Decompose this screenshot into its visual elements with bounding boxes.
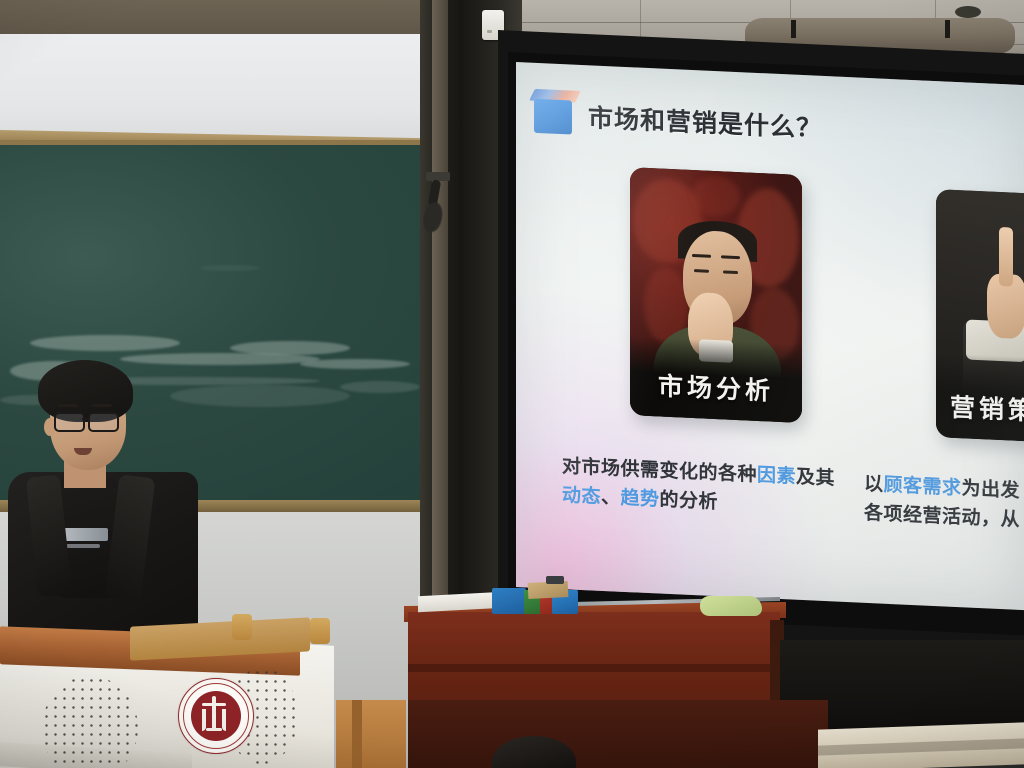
classroom-photo-scene: 市场和营销是什么？ 市场分析	[0, 0, 1024, 768]
projector-screen[interactable]: 市场和营销是什么？ 市场分析	[516, 62, 1024, 610]
green-cloth[interactable]	[700, 596, 762, 616]
slide-window-icon	[534, 99, 572, 135]
slide-card-market-analysis: 市场分析	[630, 167, 802, 423]
slide-title: 市场和营销是什么？	[588, 98, 822, 145]
tshirt-logo-sub	[66, 544, 100, 548]
body-line: 各项经营活动，从	[864, 499, 1024, 539]
blue-box[interactable]	[492, 588, 526, 614]
chair-leg	[352, 700, 362, 768]
slide-body-left: 对市场供需变化的各种因素及其 动态、趋势的分析	[562, 452, 842, 524]
lecture-podium	[0, 612, 336, 768]
clip[interactable]	[546, 576, 564, 584]
desk-edge-shadow	[408, 664, 780, 672]
eyeglasses-right-icon	[88, 412, 119, 432]
slide-card-marketing-strategy: 营销策	[936, 189, 1024, 444]
desk-front-panel	[408, 700, 828, 768]
ceiling-mount	[955, 6, 981, 18]
white-wall-panel	[0, 34, 470, 146]
slide-body-right: 以顾客需求为出发 各项经营活动，从	[864, 470, 1024, 539]
podium-knob-left[interactable]	[232, 614, 252, 640]
tshirt-logo	[64, 528, 108, 541]
eyeglasses-left-icon	[54, 412, 85, 432]
presenter-hair	[38, 360, 133, 422]
wooden-chair	[336, 700, 406, 768]
sensor-led-icon	[487, 30, 492, 33]
university-crest	[178, 678, 254, 754]
podium-knob-right[interactable]	[310, 618, 330, 644]
